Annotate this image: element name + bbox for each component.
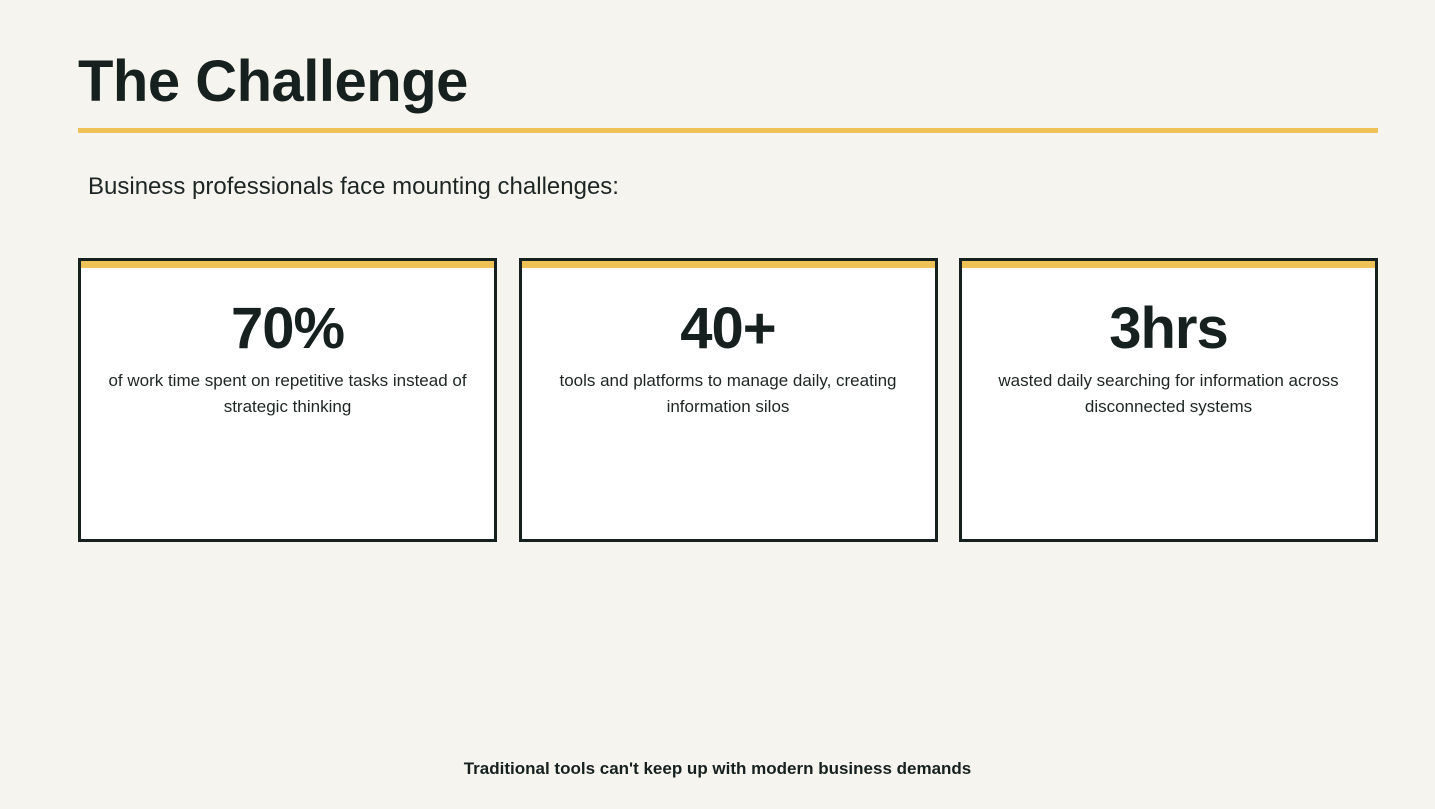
stat-card: 70% of work time spent on repetitive tas… (78, 258, 497, 542)
stat-card-row: 70% of work time spent on repetitive tas… (78, 258, 1378, 542)
page-title: The Challenge (78, 48, 1378, 116)
stat-card: 40+ tools and platforms to manage daily,… (519, 258, 938, 542)
stat-description: of work time spent on repetitive tasks i… (99, 368, 476, 420)
stat-description: wasted daily searching for information a… (980, 368, 1357, 420)
card-body: 40+ tools and platforms to manage daily,… (522, 268, 935, 420)
card-accent-bar (962, 261, 1375, 268)
slide-subtitle: Business professionals face mounting cha… (88, 172, 619, 202)
stat-description: tools and platforms to manage daily, cre… (540, 368, 917, 420)
title-accent-rule (78, 128, 1378, 133)
card-body: 3hrs wasted daily searching for informat… (962, 268, 1375, 420)
footer-note: Traditional tools can't keep up with mod… (0, 757, 1435, 781)
slide-the-challenge: The Challenge Business professionals fac… (0, 0, 1435, 809)
stat-number: 3hrs (980, 298, 1357, 360)
stat-card: 3hrs wasted daily searching for informat… (959, 258, 1378, 542)
card-body: 70% of work time spent on repetitive tas… (81, 268, 494, 420)
card-accent-bar (81, 261, 494, 268)
stat-number: 70% (99, 298, 476, 360)
slide-header: The Challenge (78, 48, 1378, 133)
stat-number: 40+ (540, 298, 917, 360)
card-accent-bar (522, 261, 935, 268)
